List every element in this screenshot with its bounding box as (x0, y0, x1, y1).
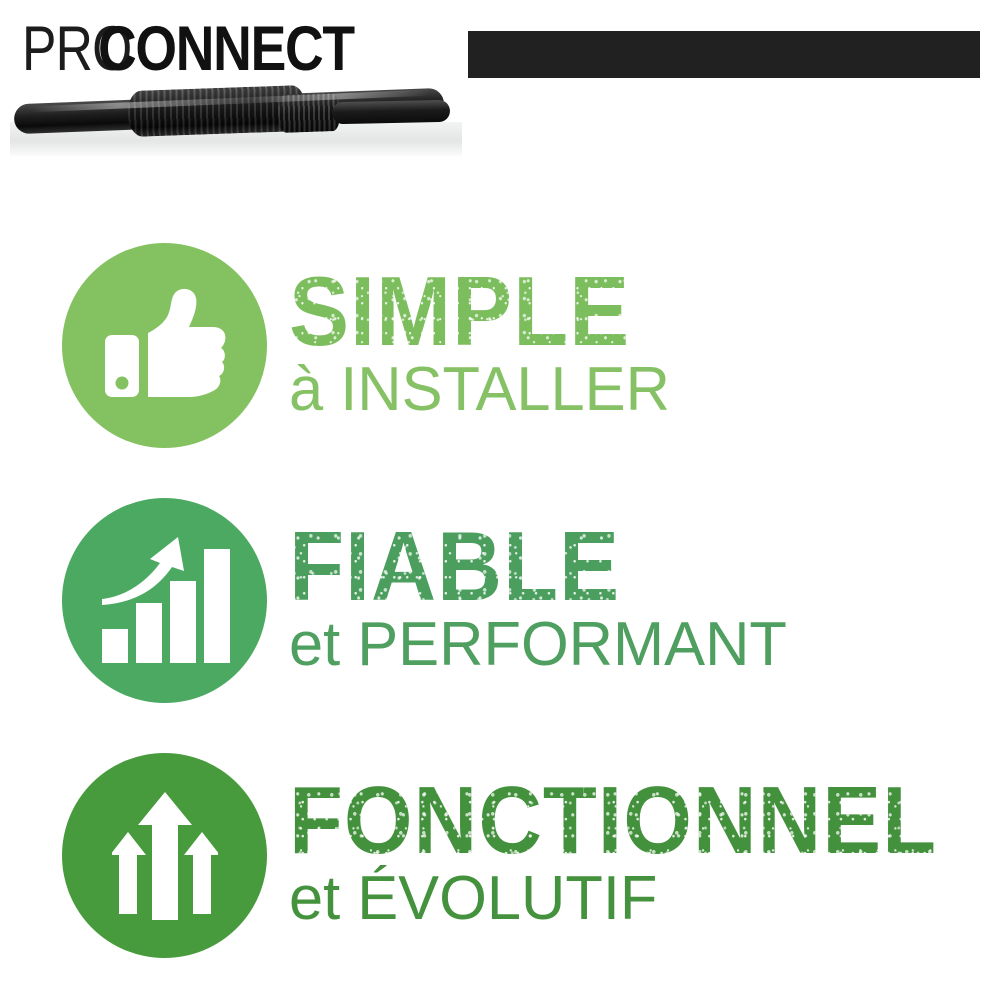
feature-icon-circle-fiable (62, 498, 267, 703)
feature-text-simple: SIMPLE à INSTALLER (289, 269, 1000, 422)
feature-row-simple: SIMPLE à INSTALLER (0, 218, 1000, 473)
feature-headline-fonctionnel: FONCTIONNEL (289, 780, 943, 863)
brand-logo: PRO CONNECT (22, 18, 399, 80)
brand-name-connect: CONNECT (98, 18, 354, 81)
cable-connector-photo (10, 78, 462, 156)
feature-row-fonctionnel: FONCTIONNEL et ÉVOLUTIF (0, 728, 1000, 983)
feature-text-fonctionnel: FONCTIONNEL et ÉVOLUTIF (289, 780, 1000, 932)
feature-subline-fonctionnel: et ÉVOLUTIF (289, 866, 993, 931)
feature-icon-circle-simple (62, 243, 267, 448)
feature-row-fiable: FIABLE et PERFORMANT (0, 473, 1000, 728)
header-black-bar (468, 31, 980, 78)
feature-subline-fiable: et PERFORMANT (289, 612, 993, 677)
feature-list: SIMPLE à INSTALLER FIABLE et PERFORMANT (0, 218, 1000, 983)
thumbs-up-icon (103, 287, 227, 405)
feature-icon-circle-fonctionnel (62, 753, 267, 958)
feature-subline-simple: à INSTALLER (289, 357, 993, 422)
page-header: PRO CONNECT (0, 0, 1000, 175)
feature-headline-fiable: FIABLE (289, 524, 943, 608)
feature-headline-simple: SIMPLE (289, 269, 943, 353)
cable-tail (332, 100, 450, 124)
bar-chart-growth-icon (100, 537, 230, 665)
feature-text-fiable: FIABLE et PERFORMANT (289, 524, 1000, 677)
three-up-arrows-icon (112, 792, 218, 920)
